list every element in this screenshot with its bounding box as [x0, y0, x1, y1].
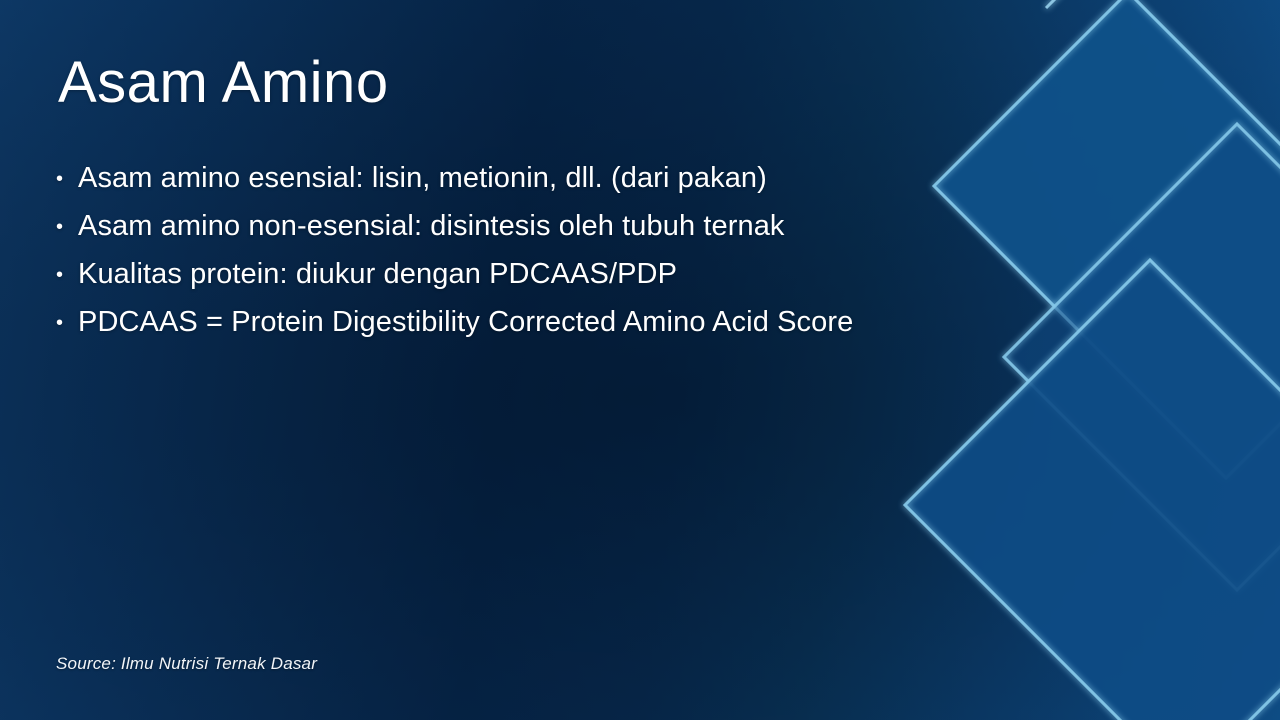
bullet-marker-icon: • — [56, 300, 78, 347]
list-item-label: Asam amino non-esensial: disintesis oleh… — [78, 210, 785, 242]
source-caption: Source: Ilmu Nutrisi Ternak Dasar — [56, 654, 317, 674]
list-item-label: PDCAAS = Protein Digestibility Corrected… — [78, 306, 853, 338]
list-item-label: Asam amino esensial: lisin, metionin, dl… — [78, 162, 767, 194]
list-item: •Asam amino esensial: lisin, metionin, d… — [56, 155, 1056, 203]
list-item: •PDCAAS = Protein Digestibility Correcte… — [56, 299, 1056, 347]
list-item: •Asam amino non-esensial: disintesis ole… — [56, 203, 1056, 251]
bullet-marker-icon: • — [56, 204, 78, 251]
list-item-label: Kualitas protein: diukur dengan PDCAAS/P… — [78, 258, 677, 290]
list-item: •Kualitas protein: diukur dengan PDCAAS/… — [56, 251, 1056, 299]
bullet-marker-icon: • — [56, 156, 78, 203]
slide-content: Asam Amino •Asam amino esensial: lisin, … — [0, 0, 1280, 720]
slide-canvas: Asam Amino •Asam amino esensial: lisin, … — [0, 0, 1280, 720]
bullet-marker-icon: • — [56, 252, 78, 299]
bullet-list: •Asam amino esensial: lisin, metionin, d… — [56, 155, 1056, 347]
page-title: Asam Amino — [58, 52, 389, 115]
